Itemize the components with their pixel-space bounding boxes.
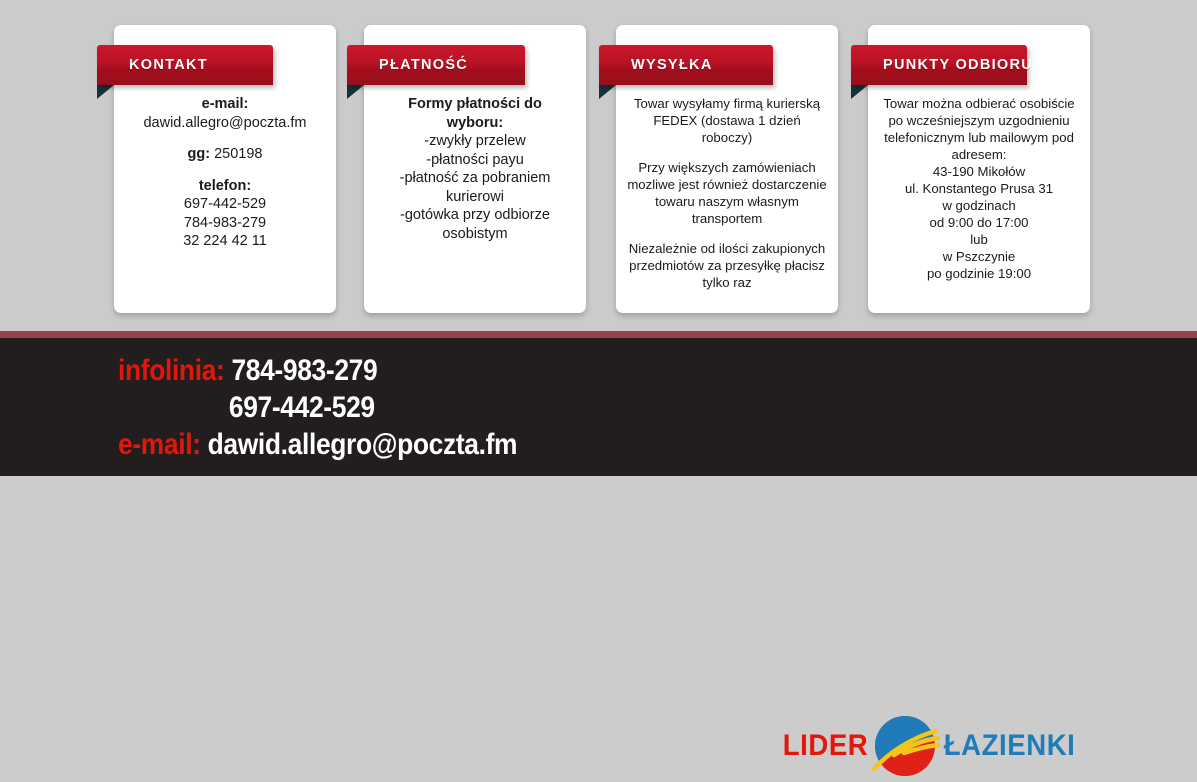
card-body-wysylka: Towar wysyłamy firmą kurierską FEDEX (do… [616,95,838,291]
footer-email-value: dawid.allegro@poczta.fm [208,428,518,461]
info-card-kontakt: KONTAKT e-mail: dawid.allegro@poczta.fm … [114,25,336,313]
footer-contact-block: infolinia: 784-983-279 697-442-529 e-mai… [118,352,488,463]
card-line: tylko raz [624,274,830,291]
pickup-city-alt: w Pszczynie [876,248,1082,265]
card-body-kontakt: e-mail: dawid.allegro@poczta.fm gg: 2501… [114,95,336,251]
footer-phone-secondary-row: 697-442-529 [118,389,488,426]
brand-logo-circle-swoosh-icon [870,713,940,779]
payment-option: -płatność za pobraniem [372,169,578,188]
ribbon-fold-icon-platnosc [347,85,364,99]
pickup-street: ul. Konstantego Prusa 31 [876,180,1082,197]
footer-hotline-label: infolinia: [118,354,224,387]
info-card-platnosc: PŁATNOŚĆ Formy płatności do wyboru: -zwy… [364,25,586,313]
section-divider [0,331,1197,338]
contact-phone-3: 32 224 42 11 [122,232,328,251]
footer-bar: infolinia: 784-983-279 697-442-529 e-mai… [0,338,1197,476]
spacer [122,164,328,177]
contact-phone-2: 784-983-279 [122,214,328,233]
card-line: telefonicznym lub mailowym pod [876,129,1082,146]
card-line: transportem [624,210,830,227]
info-card-punkty-odbioru: PUNKTY ODBIORU Towar można odbierać osob… [868,25,1090,313]
card-line: towaru naszym własnym [624,193,830,210]
card-line: Niezależnie od ilości zakupionych [624,240,830,257]
ribbon-fold-icon-kontakt [97,85,114,99]
payment-option: -płatności payu [372,151,578,170]
card-title-punkty-odbioru: PUNKTY ODBIORU [851,57,1033,73]
payment-option: -gotówka przy odbiorze [372,206,578,225]
card-line: Towar wysyłamy firmą kurierską [624,95,830,112]
contact-phone-1: 697-442-529 [122,195,328,214]
contact-phone-label: telefon: [122,177,328,196]
card-line: lub [876,231,1082,248]
info-card-wysylka: WYSYŁKA Towar wysyłamy firmą kurierską F… [616,25,838,313]
card-line: Przy większych zamówieniach [624,159,830,176]
pickup-hours: od 9:00 do 17:00 [876,214,1082,231]
card-title-wysylka: WYSYŁKA [599,57,713,73]
card-line: e-mail: [122,95,328,114]
contact-email-value: dawid.allegro@poczta.fm [122,114,328,133]
card-line: w godzinach [876,197,1082,214]
footer-email-label: e-mail: [118,428,201,461]
ribbon-fold-icon-wysylka [599,85,616,99]
info-cards-section: KONTAKT e-mail: dawid.allegro@poczta.fm … [0,0,1197,331]
footer-phone-primary: 784-983-279 [231,354,377,387]
card-line: mozliwe jest również dostarczenie [624,176,830,193]
card-line: Towar można odbierać osobiście [876,95,1082,112]
contact-gg-label: gg: [188,146,211,162]
footer-email-row: e-mail: dawid.allegro@poczta.fm [118,426,488,463]
card-body-punkty-odbioru: Towar można odbierać osobiście po wcześn… [868,95,1090,282]
footer-hotline-row: infolinia: 784-983-279 [118,352,488,389]
spacer [624,146,830,159]
ribbon-fold-icon-punkty-odbioru [851,85,868,99]
footer-phone-secondary: 697-442-529 [229,391,375,424]
pickup-hours-alt: po godzinie 19:00 [876,265,1082,282]
brand-logo: LIDER ŁAZIENKI [779,710,1089,782]
card-ribbon-header-kontakt: KONTAKT [97,45,273,85]
card-body-platnosc: Formy płatności do wyboru: -zwykły przel… [364,95,586,243]
card-ribbon-header-wysylka: WYSYŁKA [599,45,773,85]
payment-option: kurierowi [372,188,578,207]
payment-option: osobistym [372,225,578,244]
card-line: po wcześniejszym uzgodnieniu [876,112,1082,129]
brand-logo-word-lazienki: ŁAZIENKI [944,729,1076,763]
card-line: przedmiotów za przesyłkę płacisz [624,257,830,274]
spacer [624,227,830,240]
spacer [122,132,328,145]
contact-gg-row: gg: 250198 [122,145,328,164]
card-title-kontakt: KONTAKT [97,57,208,73]
card-ribbon-header-punkty-odbioru: PUNKTY ODBIORU [851,45,1027,85]
card-line: wyboru: [372,114,578,133]
contact-gg-value: 250198 [210,146,262,162]
card-title-platnosc: PŁATNOŚĆ [347,57,468,73]
brand-logo-word-lider: LIDER [783,729,869,763]
card-line: Formy płatności do [372,95,578,114]
pickup-postal-city: 43-190 Mikołów [876,163,1082,180]
card-ribbon-header-platnosc: PŁATNOŚĆ [347,45,525,85]
payment-option: -zwykły przelew [372,132,578,151]
card-line: FEDEX (dostawa 1 dzień [624,112,830,129]
card-line: adresem: [876,146,1082,163]
card-line: roboczy) [624,129,830,146]
